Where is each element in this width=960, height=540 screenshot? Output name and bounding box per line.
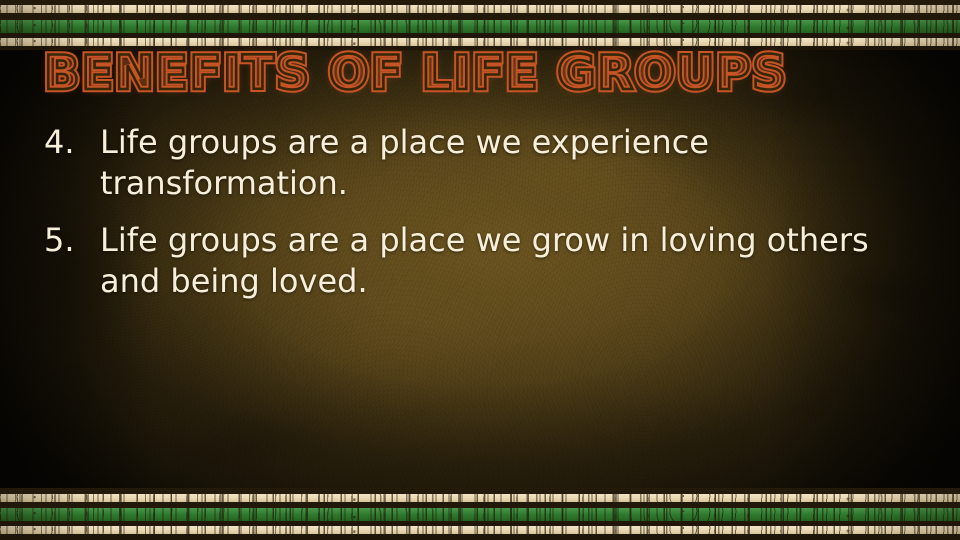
- list-item: 5. Life groups are a place we grow in lo…: [44, 220, 924, 302]
- slide-content: BENEFITS OF LIFE GROUPS BENEFITS OF LIFE…: [0, 0, 960, 540]
- list-item-number: 5.: [44, 220, 100, 302]
- list-item: 4. Life groups are a place we experience…: [44, 122, 924, 204]
- list-item-text: Life groups are a place we grow in lovin…: [100, 220, 924, 302]
- presentation-slide: BENEFITS OF LIFE GROUPS BENEFITS OF LIFE…: [0, 0, 960, 540]
- benefits-list: 4. Life groups are a place we experience…: [44, 122, 924, 318]
- list-item-text: Life groups are a place we experience tr…: [100, 122, 924, 204]
- slide-title: BENEFITS OF LIFE GROUPS BENEFITS OF LIFE…: [44, 50, 787, 97]
- list-item-number: 4.: [44, 122, 100, 204]
